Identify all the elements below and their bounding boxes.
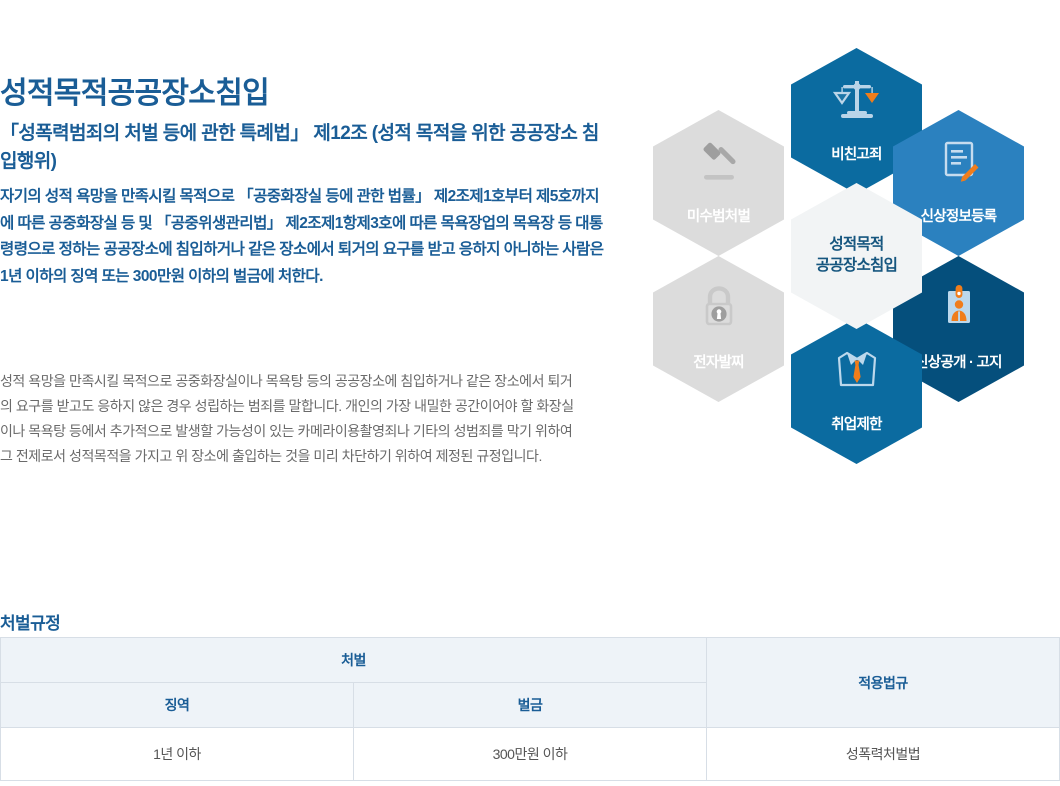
hex-center-label-line2: 공공장소침입 <box>816 257 897 274</box>
table-row: 1년 이하 300만원 이하 성폭력처벌법 <box>1 728 1060 781</box>
hex-label-sinsang-gonggae: 신상공개 · 고지 <box>915 354 1002 372</box>
shirt-tie-icon <box>829 344 885 396</box>
article-page: 성적목적공공장소침입 「성폭력범죄의 처벌 등에 관한 특례법」 제12조 (성… <box>0 0 1060 786</box>
table-header-imprisonment: 징역 <box>1 683 354 728</box>
hex-node-misubeom[interactable]: 미수범처벌 <box>653 110 784 256</box>
penalty-table-head: 처벌 적용법규 징역 벌금 <box>1 638 1060 728</box>
crime-description: 성적 욕망을 만족시킬 목적으로 공중화장실이나 목욕탕 등의 공공장소에 침입… <box>0 369 580 469</box>
hex-label-sinsang-deungrok: 신상정보등록 <box>921 208 997 226</box>
hex-center-label-line1: 성적목적 <box>829 236 883 253</box>
table-header-row-group: 처벌 적용법규 <box>1 638 1060 683</box>
penalty-table: 처벌 적용법규 징역 벌금 1년 이하 300만원 이하 성폭력처벌법 <box>0 637 1060 781</box>
table-header-applicable-law: 적용법규 <box>707 638 1060 728</box>
consequence-hex-diagram: 비친고죄 신상정보등록 <box>645 30 1060 460</box>
cell-imprisonment: 1년 이하 <box>1 728 354 781</box>
hex-node-jeonja-baljji[interactable]: 전자발찌 <box>653 256 784 402</box>
hex-label-misubeom: 미수범처벌 <box>687 208 750 226</box>
law-article-text: 자기의 성적 욕망을 만족시킬 목적으로 「공중화장실 등에 관한 법률」 제2… <box>0 184 608 291</box>
hex-label-jeonja-baljji: 전자발찌 <box>693 354 744 372</box>
page-title: 성적목적공공장소침입 <box>0 76 269 112</box>
cell-fine: 300만원 이하 <box>354 728 707 781</box>
hex-center-label: 성적목적 공공장소침입 <box>816 235 897 277</box>
hex-label-bichingojoe: 비친고죄 <box>831 146 882 164</box>
table-header-punishment-group: 처벌 <box>1 638 707 683</box>
table-header-fine: 벌금 <box>354 683 707 728</box>
penalty-table-body: 1년 이하 300만원 이하 성폭력처벌법 <box>1 728 1060 781</box>
gavel-icon <box>691 136 747 188</box>
padlock-icon <box>691 282 747 334</box>
law-citation: 「성폭력범죄의 처벌 등에 관한 특례법」 제12조 (성적 목적을 위한 공공… <box>0 120 605 175</box>
penalty-section-heading: 처벌규정 <box>0 609 60 634</box>
id-badge-icon <box>931 282 987 334</box>
hex-label-chwieop-jehan: 취업제한 <box>831 416 882 434</box>
cell-applicable-law: 성폭력처벌법 <box>707 728 1060 781</box>
document-pencil-icon <box>931 136 987 188</box>
scales-icon <box>829 74 885 126</box>
